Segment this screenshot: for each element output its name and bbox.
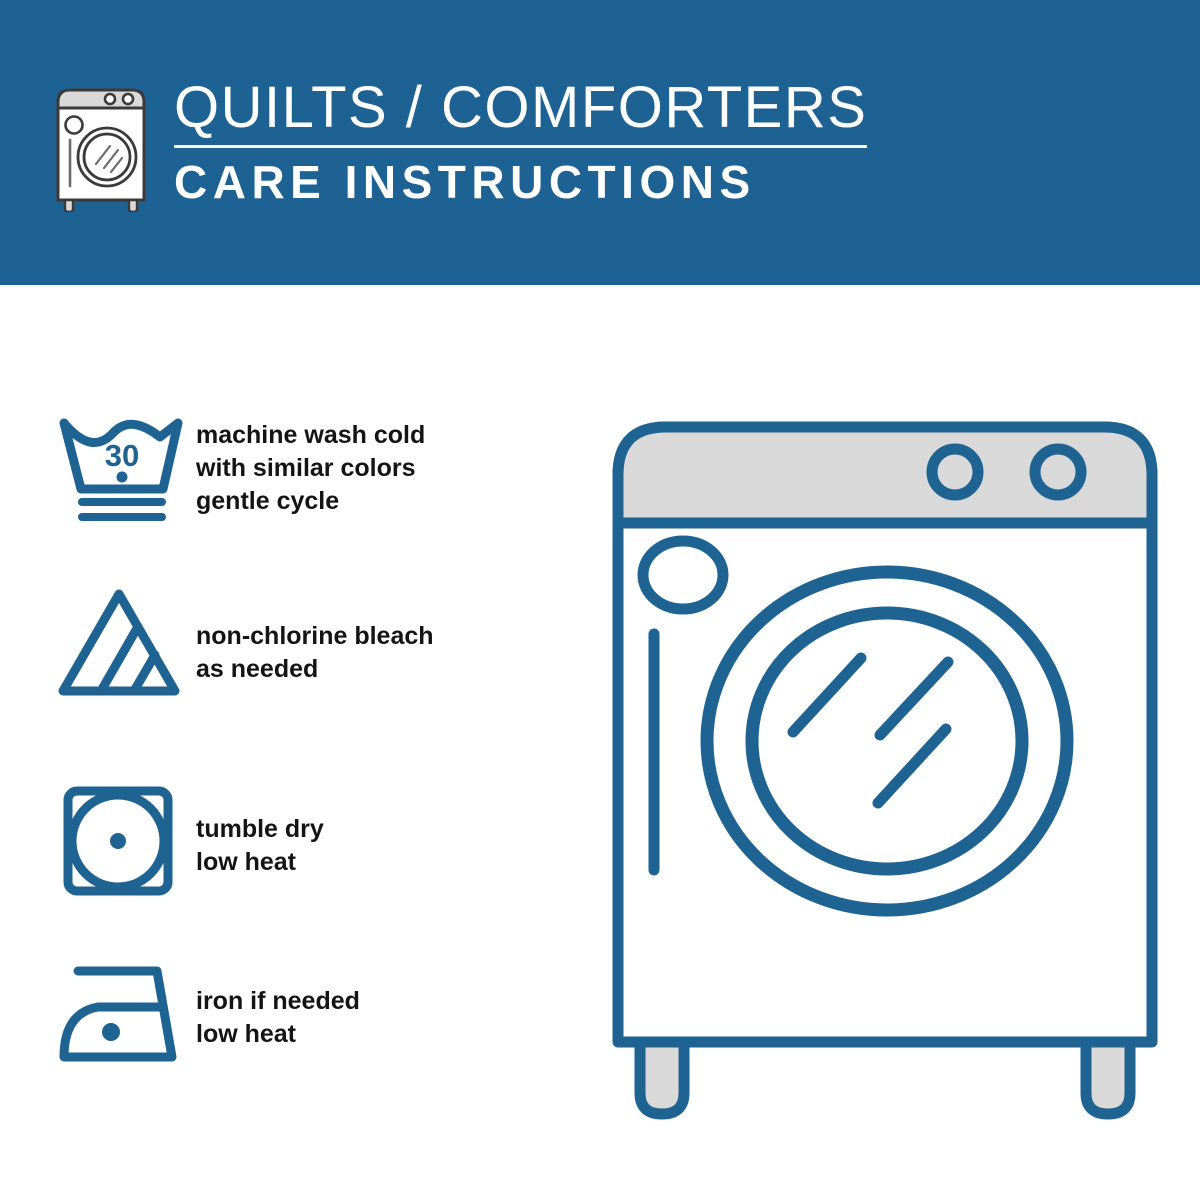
washer-dispenser-dial	[643, 541, 723, 609]
care-line: machine wash cold	[196, 419, 425, 452]
wash-tub-30-gentle-icon: 30	[56, 413, 196, 525]
care-row: non-chlorine bleach as needed	[56, 588, 536, 700]
washer-drum-inner	[752, 613, 1022, 869]
title-block: QUILTS / COMFORTERS CARE INSTRUCTIONS	[174, 78, 867, 208]
care-text: non-chlorine bleach as needed	[196, 588, 434, 686]
care-line: low heat	[196, 1018, 360, 1051]
washer-leg-right	[1086, 1042, 1130, 1114]
header-content: QUILTS / COMFORTERS CARE INSTRUCTIONS	[48, 78, 867, 212]
care-row: 30 machine wash cold with similar colors…	[56, 413, 536, 525]
non-chlorine-bleach-triangle-icon	[56, 588, 196, 700]
washing-machine-illustration	[600, 405, 1170, 1120]
page-subtitle: CARE INSTRUCTIONS	[174, 156, 867, 208]
title-divider	[174, 145, 867, 148]
care-row: tumble dry low heat	[56, 785, 536, 897]
care-row: iron if needed low heat	[56, 957, 536, 1069]
care-line: gentle cycle	[196, 485, 425, 518]
care-text: tumble dry low heat	[196, 785, 324, 879]
wash-temperature-value: 30	[105, 438, 139, 473]
washing-machine-icon	[48, 82, 154, 212]
iron-low-heat-icon	[56, 957, 196, 1069]
care-line: as needed	[196, 653, 434, 686]
care-line: with similar colors	[196, 452, 425, 485]
care-line: non-chlorine bleach	[196, 620, 434, 653]
care-line: low heat	[196, 846, 324, 879]
care-line: iron if needed	[196, 985, 360, 1018]
page-header: QUILTS / COMFORTERS CARE INSTRUCTIONS	[0, 0, 1200, 285]
care-instructions-list: 30 machine wash cold with similar colors…	[0, 285, 560, 1200]
care-text: iron if needed low heat	[196, 957, 360, 1051]
washer-knob-left	[932, 449, 978, 495]
care-line: tumble dry	[196, 813, 324, 846]
washer-leg-left	[640, 1042, 684, 1114]
tumble-dry-low-heat-icon	[56, 785, 196, 897]
washer-knob-right	[1035, 449, 1081, 495]
page-title: QUILTS / COMFORTERS	[174, 78, 867, 138]
care-text: machine wash cold with similar colors ge…	[196, 413, 425, 518]
